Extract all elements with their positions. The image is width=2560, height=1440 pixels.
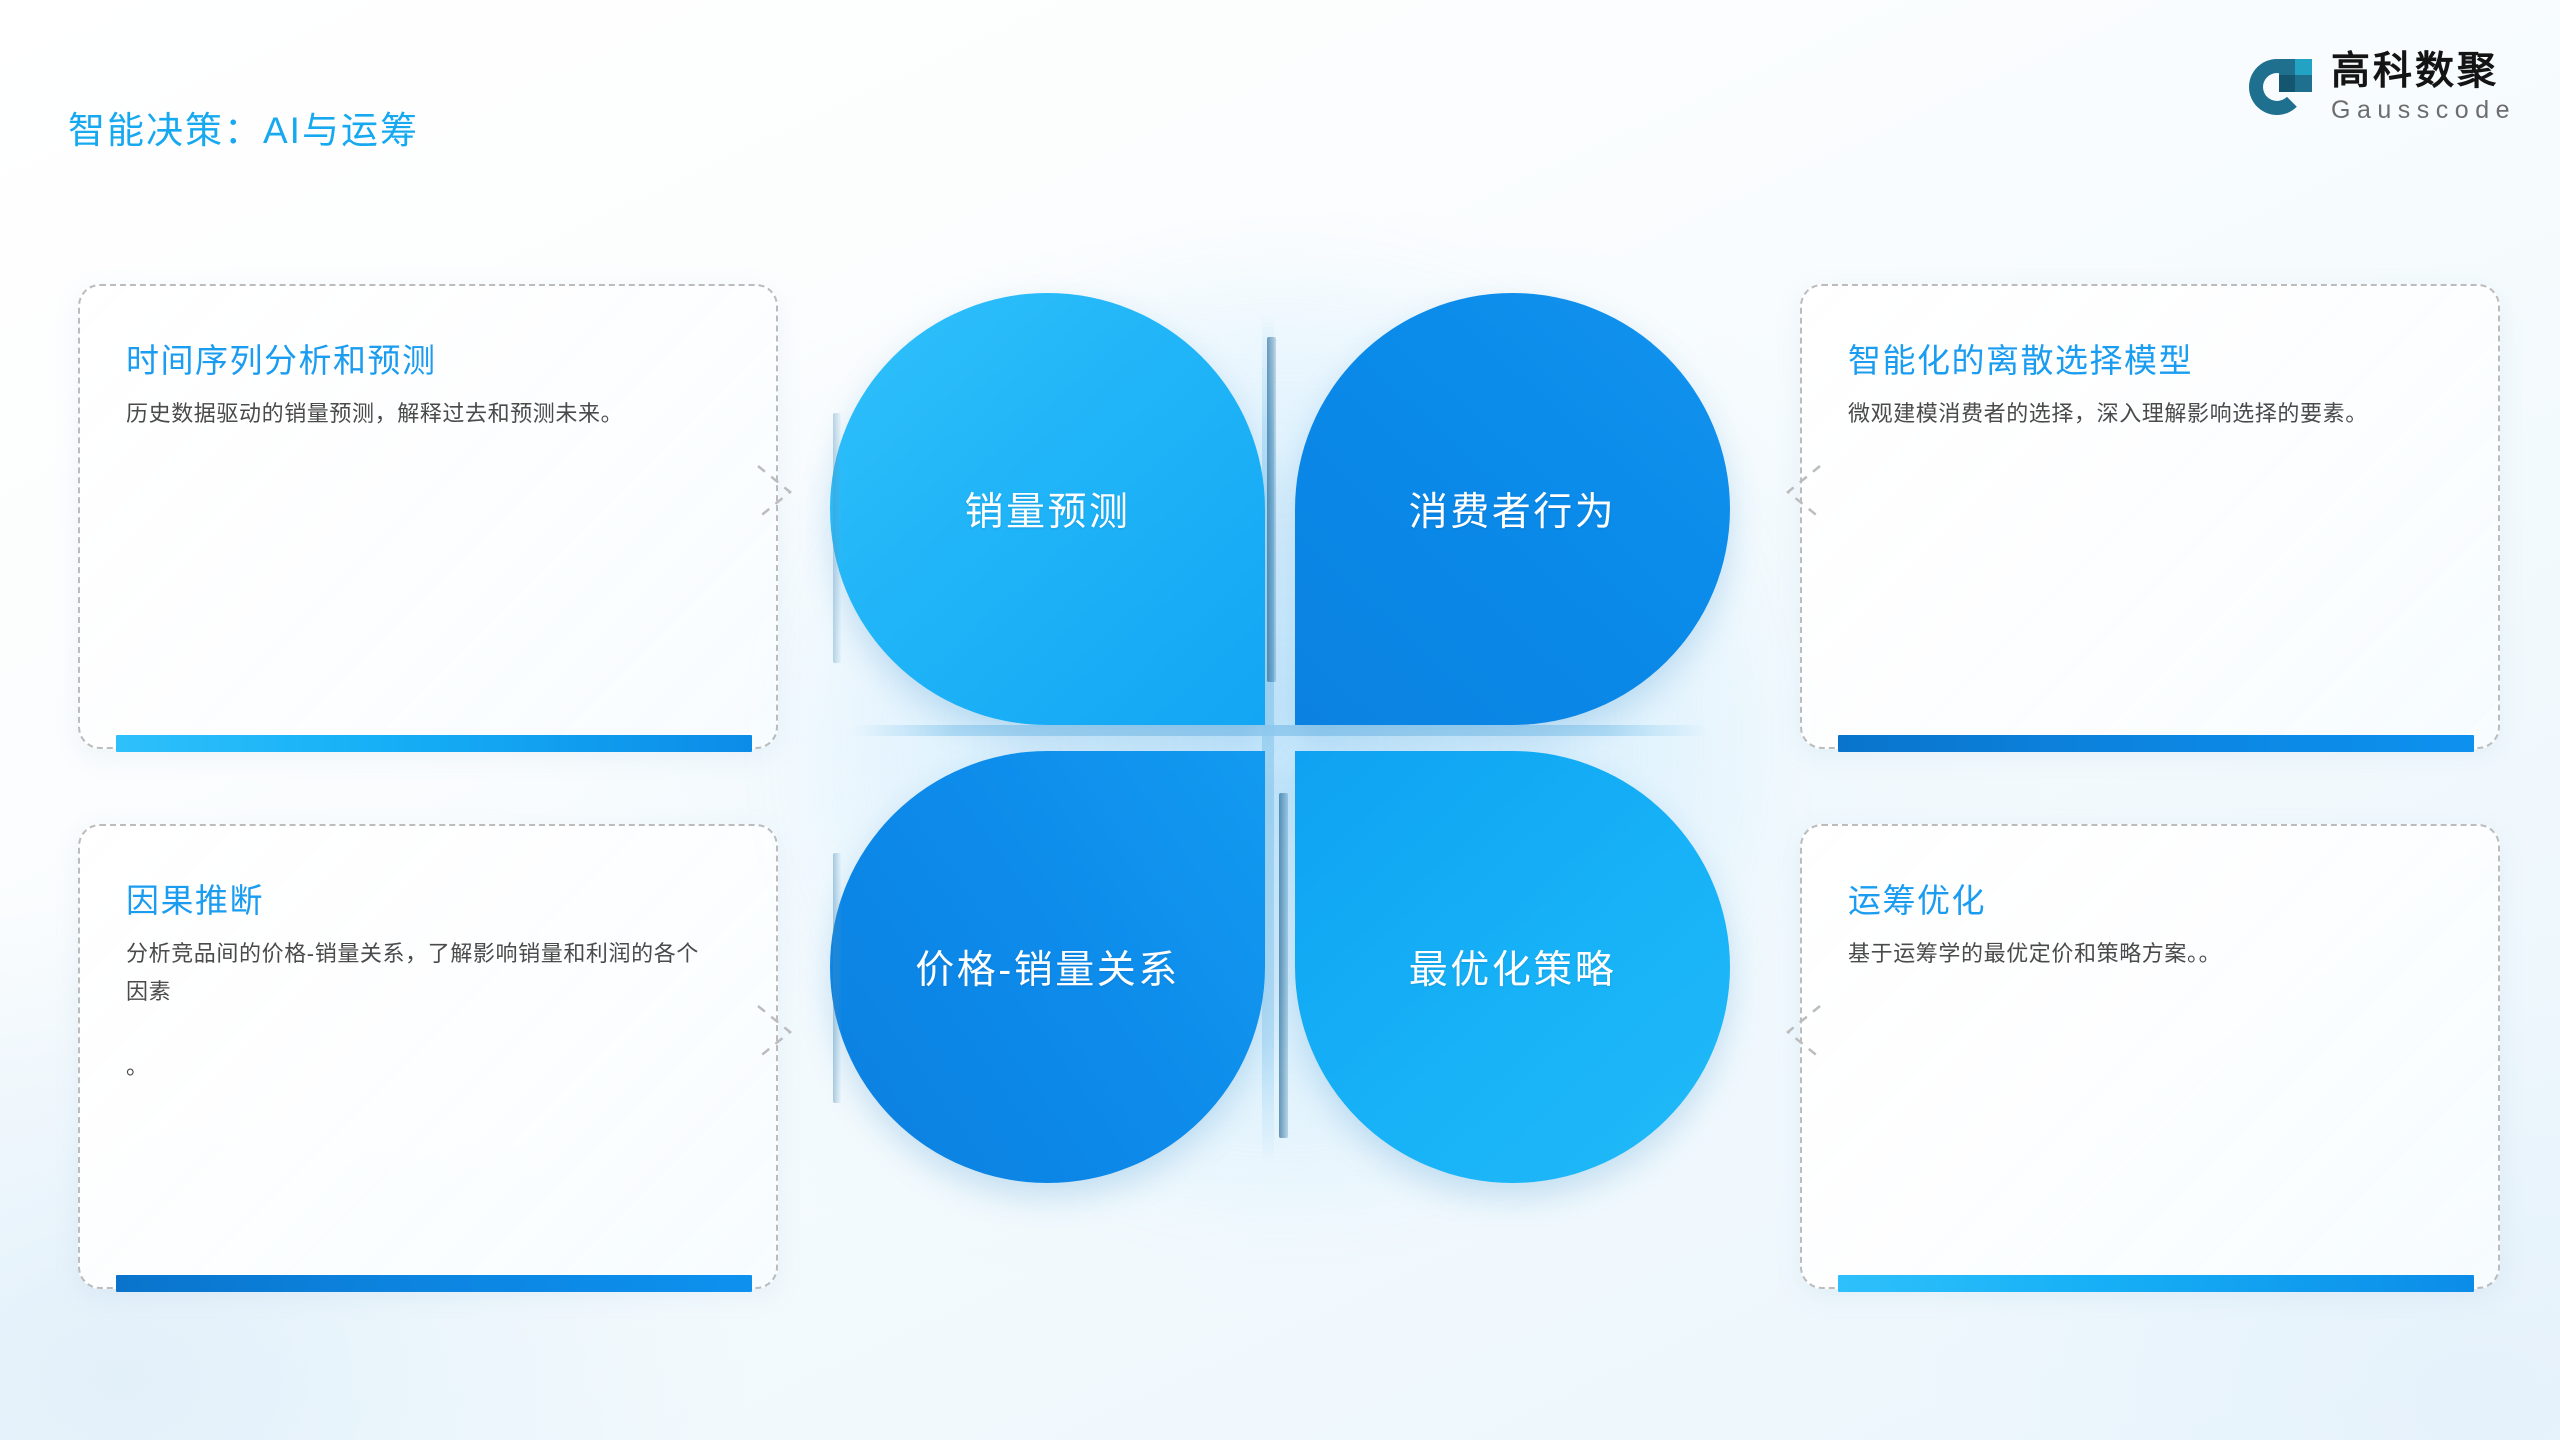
connector-chevron-icon — [1780, 462, 1822, 522]
card-time-series[interactable]: 时间序列分析和预测 历史数据驱动的销量预测，解释过去和预测未来。 — [78, 284, 778, 749]
petal-edge-shadow — [1267, 337, 1276, 682]
quadrant-flower-diagram: 销量预测 消费者行为 价格-销量关系 最优化策略 — [830, 293, 1730, 1183]
petal-optimal-strategy[interactable]: 最优化策略 — [1295, 751, 1730, 1183]
card-title: 运筹优化 — [1848, 874, 2452, 922]
connector-chevron-icon — [1780, 1002, 1822, 1062]
card-causal-inference[interactable]: 因果推断 分析竞品间的价格-销量关系，了解影响销量和利润的各个因素 。 — [78, 824, 778, 1289]
flower-seam-horizontal — [852, 725, 1708, 736]
petal-price-sales-relation[interactable]: 价格-销量关系 — [830, 751, 1265, 1183]
petal-label: 销量预测 — [964, 481, 1130, 537]
petal-consumer-behavior[interactable]: 消费者行为 — [1295, 293, 1730, 725]
logo-name-en: Gausscode — [2331, 98, 2516, 123]
card-title: 时间序列分析和预测 — [126, 334, 730, 382]
petal-label: 消费者行为 — [1409, 481, 1617, 537]
card-title: 因果推断 — [126, 874, 730, 922]
petal-sales-forecast[interactable]: 销量预测 — [830, 293, 1265, 725]
card-body: 分析竞品间的价格-销量关系，了解影响销量和利润的各个因素 。 — [126, 935, 706, 1086]
page-title: 智能决策：AI与运筹 — [68, 100, 419, 154]
petal-edge-shadow — [1279, 793, 1288, 1138]
petal-label: 最优化策略 — [1409, 939, 1617, 995]
card-body: 基于运筹学的最优定价和策略方案。。 — [1848, 935, 2428, 973]
card-discrete-choice[interactable]: 智能化的离散选择模型 微观建模消费者的选择，深入理解影响选择的要素。 — [1800, 284, 2500, 749]
card-accent-bar — [1838, 1275, 2474, 1292]
gausscode-logo-icon — [2249, 56, 2312, 119]
connector-chevron-icon — [756, 462, 798, 522]
card-accent-bar — [116, 735, 752, 752]
card-accent-bar — [116, 1275, 752, 1292]
card-accent-bar — [1838, 735, 2474, 752]
card-operations-research[interactable]: 运筹优化 基于运筹学的最优定价和策略方案。。 — [1800, 824, 2500, 1289]
card-body: 历史数据驱动的销量预测，解释过去和预测未来。 — [126, 395, 706, 433]
logo-name-cn: 高科数聚 — [2331, 52, 2516, 91]
petal-label: 价格-销量关系 — [915, 939, 1180, 995]
card-body: 微观建模消费者的选择，深入理解影响选择的要素。 — [1848, 395, 2428, 433]
brand-logo: 高科数聚 Gausscode — [2249, 52, 2516, 123]
connector-chevron-icon — [756, 1002, 798, 1062]
card-title: 智能化的离散选择模型 — [1848, 334, 2452, 382]
